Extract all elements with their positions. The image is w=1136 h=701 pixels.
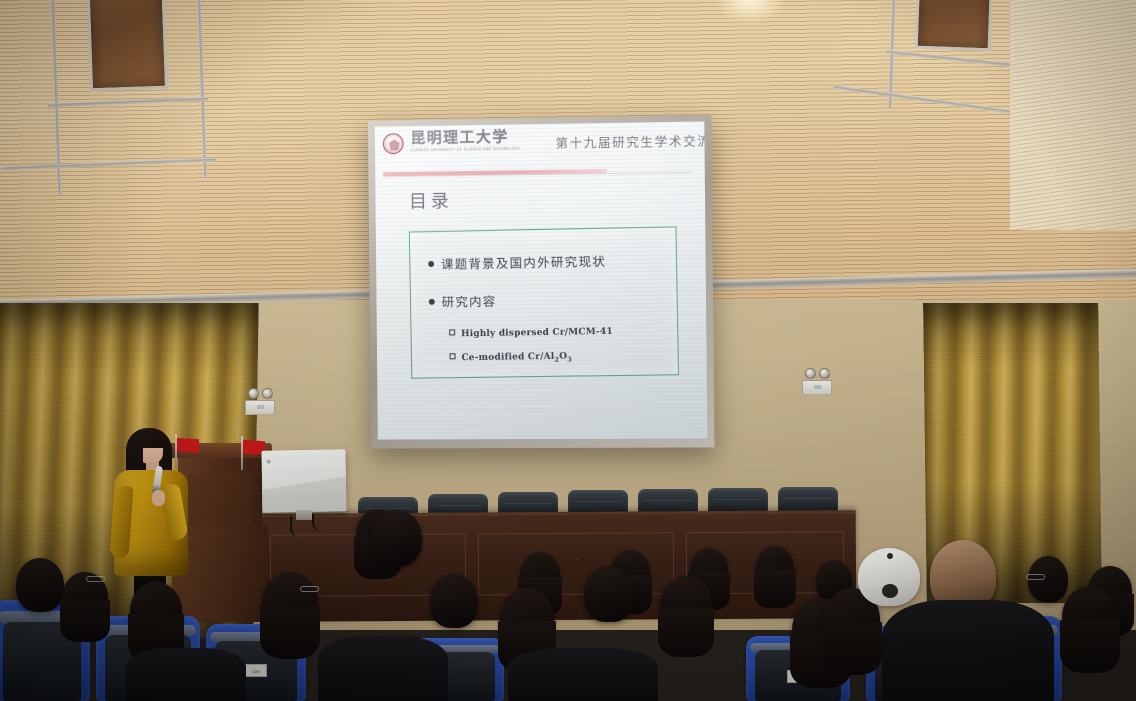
university-name-en: KUNMING UNIVERSITY OF SCIENCE AND TECHNO… xyxy=(411,147,521,153)
audience-head xyxy=(130,582,182,640)
slide-header: 昆明理工大学 KUNMING UNIVERSITY OF SCIENCE AND… xyxy=(375,121,705,172)
audience-head xyxy=(756,546,794,590)
conference-title: 第十九届研究生学术交流年会 xyxy=(555,130,707,152)
podium-neck xyxy=(188,474,252,526)
hollow-square-bullet-icon xyxy=(449,329,455,335)
lamp-bulb xyxy=(262,388,273,399)
audience-head xyxy=(16,558,64,612)
audience-head xyxy=(660,576,712,634)
eyeglasses xyxy=(300,586,319,592)
slide-content-box: 课题背景及国内外研究现状 研究内容 Highly dispersed Cr/MC… xyxy=(409,226,679,378)
audience-shoulders xyxy=(318,636,448,701)
white-baseball-cap xyxy=(858,548,920,606)
wall-inset-panel xyxy=(915,0,994,51)
emergency-light xyxy=(800,368,834,398)
sub-bullet-text-main: Ce-modified Cr/Al xyxy=(461,352,554,363)
flag-pole xyxy=(241,436,243,470)
eyeglasses xyxy=(1026,574,1045,580)
university-seal-icon xyxy=(383,133,404,154)
audience-shoulders xyxy=(126,648,246,701)
sub-bullet-text: Highly dispersed Cr/MCM-41 xyxy=(461,327,613,339)
lamp-bulb xyxy=(805,368,816,379)
wall-inset-panel xyxy=(86,0,168,91)
emergency-light-body xyxy=(802,380,832,395)
filled-circle-bullet-icon xyxy=(429,299,435,305)
projection-screen: 昆明理工大学 KUNMING UNIVERSITY OF SCIENCE AND… xyxy=(368,115,715,448)
upper-wood-wall-right-return xyxy=(1010,0,1136,230)
bullet-item: 研究内容 xyxy=(429,288,677,311)
university-name-cn: 昆明理工大学 xyxy=(410,129,520,146)
auditorium-photo: 昆明理工大学 KUNMING UNIVERSITY OF SCIENCE AND… xyxy=(0,0,1136,701)
sub-bullet-text: Ce-modified Cr/Al2O3 xyxy=(461,352,572,365)
audience-head xyxy=(1062,586,1118,648)
presenter-hand xyxy=(152,490,165,506)
audience-shoulders xyxy=(882,600,1054,701)
bullet-text: 研究内容 xyxy=(442,291,497,311)
lamp-bulb xyxy=(248,388,259,399)
audience-head xyxy=(430,574,478,628)
sub-bullet-item: Highly dispersed Cr/MCM-41 xyxy=(449,326,677,340)
cap-button xyxy=(887,553,893,559)
university-wordmark: 昆明理工大学 KUNMING UNIVERSITY OF SCIENCE AND… xyxy=(410,129,520,152)
slide-surface: 昆明理工大学 KUNMING UNIVERSITY OF SCIENCE AND… xyxy=(375,121,708,439)
audience-shoulders xyxy=(508,648,658,701)
formula-subscript-3: 3 xyxy=(567,355,572,363)
bullet-text: 课题背景及国内外研究现状 xyxy=(441,251,606,273)
slide-title: 目录 xyxy=(409,184,705,214)
seat-number-tag: 026 xyxy=(245,664,267,677)
emergency-light-lamps xyxy=(800,368,834,379)
lamp-bulb xyxy=(819,368,830,379)
filled-circle-bullet-icon xyxy=(428,261,434,267)
audience-head xyxy=(584,566,634,622)
audience-head xyxy=(500,588,554,648)
emergency-light-lamps xyxy=(243,388,277,399)
emergency-light-body xyxy=(245,400,275,415)
slide-bullet-list: 课题背景及国内外研究现状 研究内容 Highly dispersed Cr/MC… xyxy=(410,227,678,365)
audience-head xyxy=(262,572,318,634)
monitor-cable xyxy=(290,516,308,538)
bullet-item: 课题背景及国内外研究现状 xyxy=(428,249,676,273)
confidence-monitor xyxy=(261,449,346,512)
emergency-light xyxy=(243,388,277,418)
sub-bullet-item: Ce-modified Cr/Al2O3 xyxy=(450,350,678,365)
formula-oxygen: O xyxy=(559,352,567,362)
eyeglasses xyxy=(86,576,105,582)
hollow-square-bullet-icon xyxy=(450,353,456,359)
audience-head xyxy=(372,510,422,566)
